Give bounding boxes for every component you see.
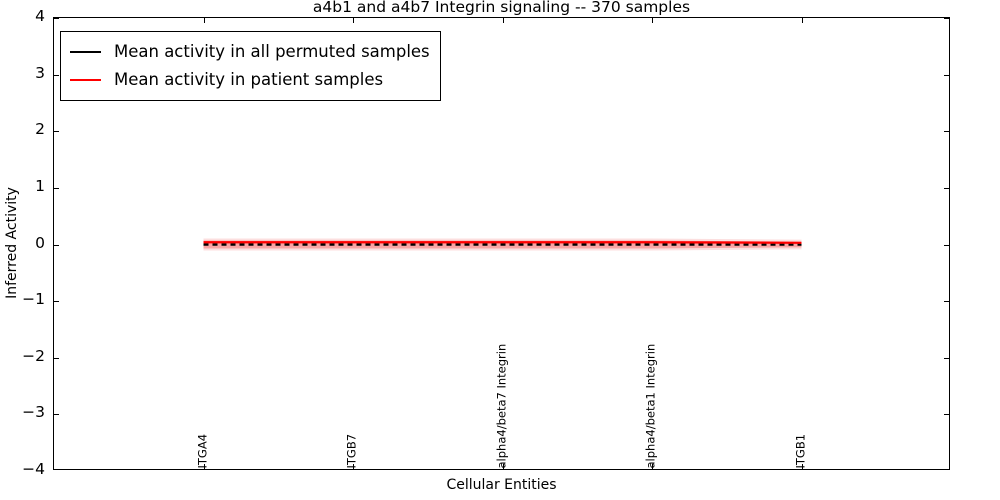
legend-item[interactable]: Mean activity in patient samples xyxy=(70,66,430,94)
chart-title: a4b1 and a4b7 Integrin signaling -- 370 … xyxy=(53,0,950,16)
y-axis-tick-label: 3 xyxy=(1,66,45,82)
chart-legend: Mean activity in all permuted samplesMea… xyxy=(60,31,441,101)
y-axis-tick-label: −1 xyxy=(1,292,45,308)
y-axis-tick-label: 2 xyxy=(1,122,45,138)
legend-color-swatch xyxy=(70,79,101,81)
legend-color-swatch xyxy=(70,51,101,53)
x-axis-label: Cellular Entities xyxy=(53,478,950,492)
y-axis-tick-label: −2 xyxy=(1,349,45,365)
figure-canvas: a4b1 and a4b7 Integrin signaling -- 370 … xyxy=(0,0,1000,500)
series-line xyxy=(204,242,802,243)
legend-label: Mean activity in patient samples xyxy=(114,71,383,89)
y-axis-tick-label: −3 xyxy=(1,405,45,421)
y-axis-tick-label: 0 xyxy=(1,236,45,252)
y-axis-tick-label: 1 xyxy=(1,179,45,195)
legend-label: Mean activity in all permuted samples xyxy=(114,43,430,61)
legend-item[interactable]: Mean activity in all permuted samples xyxy=(70,38,430,66)
y-axis-tick-label: 4 xyxy=(1,9,45,25)
y-axis-tick-label: −4 xyxy=(1,462,45,478)
